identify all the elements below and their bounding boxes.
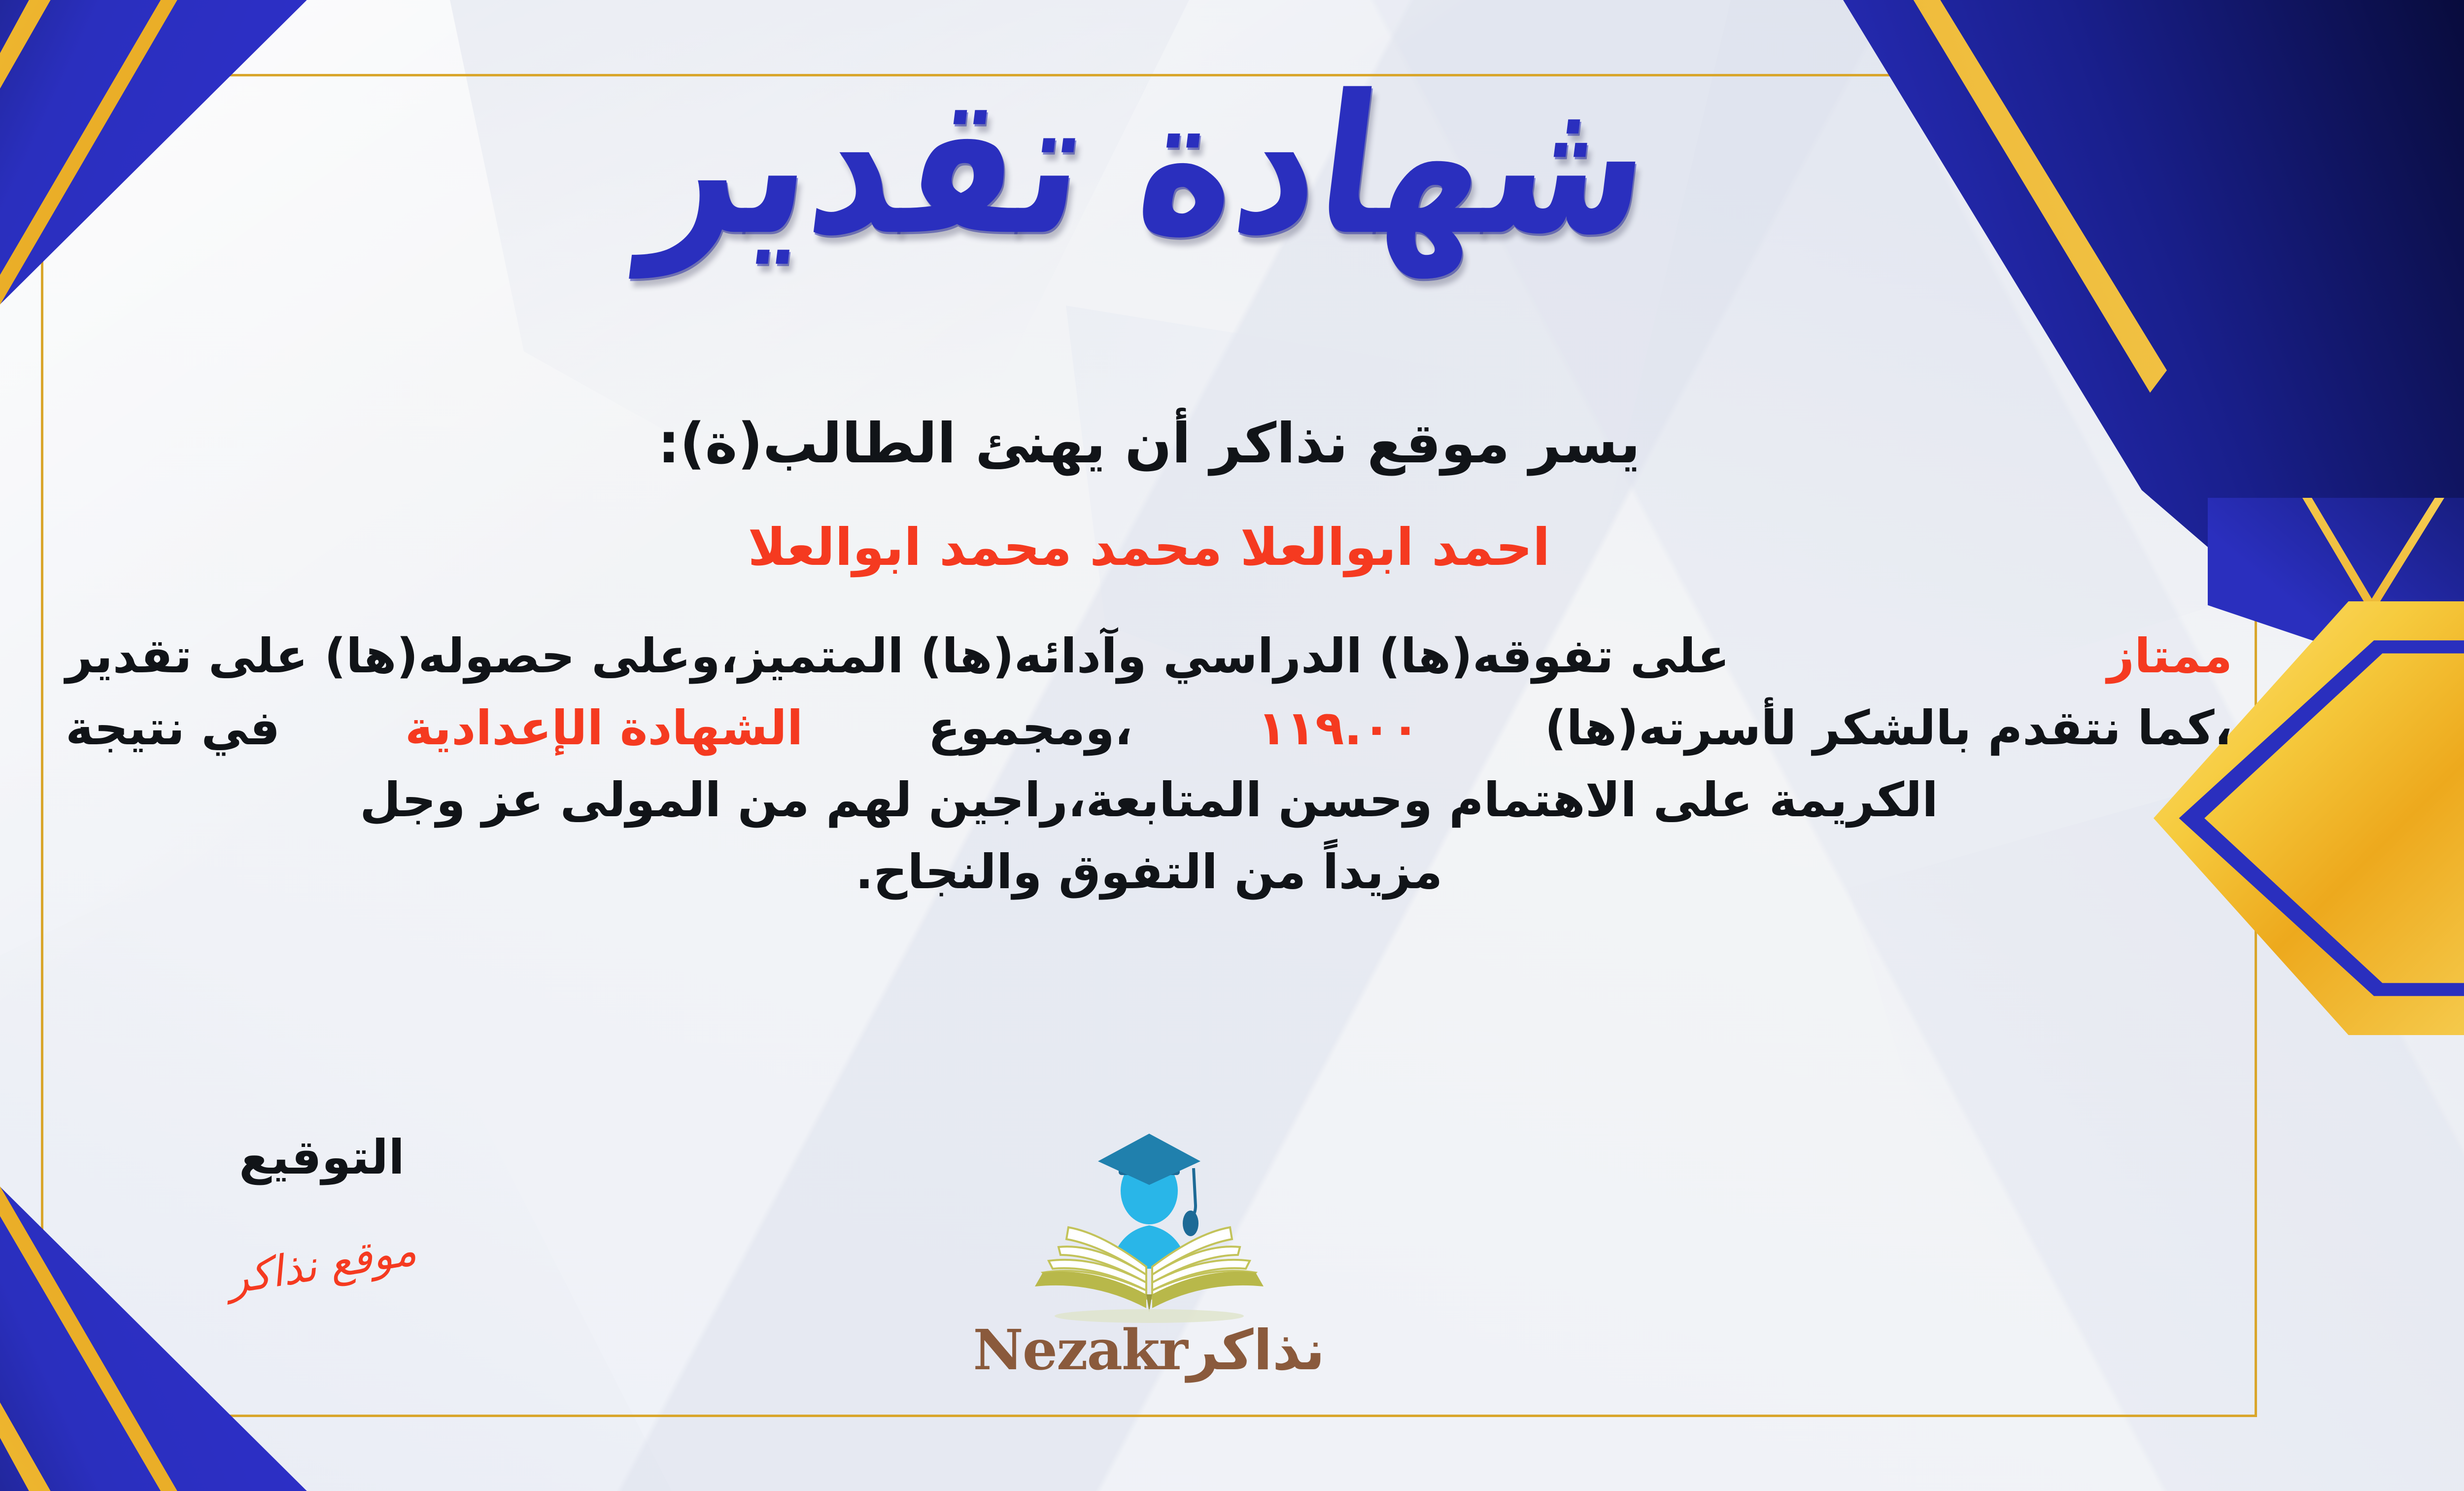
greeting-text: يسر موقع نذاكر أن يهنئ الطالب(ة): <box>66 409 2232 478</box>
body-line-3: الكريمة على الاهتمام وحسن المتابعة،راجين… <box>66 764 2232 836</box>
body-line-1: ممتاز على تفوقه(ها) الدراسي وآدائه(ها) ا… <box>66 621 2232 693</box>
title-area: شهادة تقدير <box>0 64 2464 268</box>
body-line-2-head: في نتيجة <box>66 693 280 764</box>
grade-value: ممتاز <box>2107 621 2232 693</box>
body-line-2-tail: ،كما نتقدم بالشكر لأسرته(ها) <box>1545 693 2232 764</box>
certificate-title: شهادة تقدير <box>635 46 1663 286</box>
body-line-2: ،كما نتقدم بالشكر لأسرته(ها) ١١٩.٠٠ ،ومج… <box>66 693 2232 764</box>
logo-wordmark: نذاكرNezakr <box>0 1318 2464 1383</box>
frame-line-bottom <box>41 1415 2257 1417</box>
total-score-value: ١١٩.٠٠ <box>1258 693 1420 764</box>
certificate-canvas: شهادة تقدير يسر موقع نذاكر أن يهنئ الطال… <box>0 0 2464 1491</box>
body-line-4: مزيداً من التفوق والنجاح. <box>66 836 2232 908</box>
logo-name-en: Nezakr <box>973 1318 1187 1383</box>
exam-name: الشهادة الإعدادية <box>405 693 803 764</box>
site-logo: نذاكرNezakr <box>0 1129 2464 1383</box>
graduate-over-open-book-icon <box>992 1129 1307 1326</box>
certificate-body: يسر موقع نذاكر أن يهنئ الطالب(ة): احمد ا… <box>66 409 2232 908</box>
body-paragraph: ممتاز على تفوقه(ها) الدراسي وآدائه(ها) ا… <box>66 621 2232 908</box>
total-score-label: ،ومجموع <box>928 693 1132 764</box>
student-name: احمد ابوالعلا محمد محمد ابوالعلا <box>66 517 2232 578</box>
logo-name-ar: نذاكر <box>1187 1318 1325 1383</box>
body-line-1-text: على تفوقه(ها) الدراسي وآدائه(ها) المتميز… <box>66 621 1730 693</box>
